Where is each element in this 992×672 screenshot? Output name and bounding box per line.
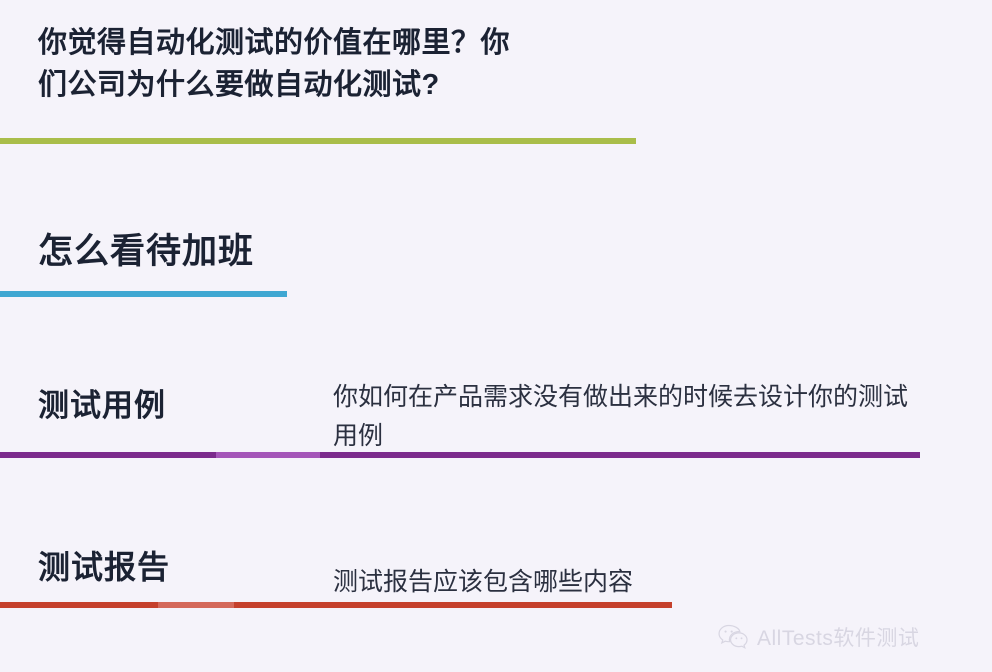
section-body-test-report: 测试报告应该包含哪些内容 <box>333 563 913 602</box>
watermark: AllTests软件测试 <box>718 622 919 652</box>
watermark-text: AllTests软件测试 <box>757 622 919 652</box>
section-rule-purple-segment <box>216 452 320 458</box>
section-label-test-report: 测试报告 <box>38 551 170 583</box>
section-label-test-case: 测试用例 <box>38 390 166 421</box>
slide-canvas: 你觉得自动化测试的价值在哪里？你 们公司为什么要做自动化测试? 怎么看待加班 测… <box>0 0 992 672</box>
section-label-overtime: 怎么看待加班 <box>38 234 254 269</box>
section-body-test-case: 你如何在产品需求没有做出来的时候去设计你的测试用例 <box>333 378 913 456</box>
section-rule-blue <box>0 291 287 297</box>
question-heading: 你觉得自动化测试的价值在哪里？你 们公司为什么要做自动化测试? <box>38 22 638 106</box>
section-rule-red <box>0 602 672 608</box>
wechat-icon <box>718 624 748 650</box>
heading-rule-olive <box>0 138 636 144</box>
section-rule-red-segment <box>158 602 234 608</box>
section-rule-purple <box>0 452 920 458</box>
